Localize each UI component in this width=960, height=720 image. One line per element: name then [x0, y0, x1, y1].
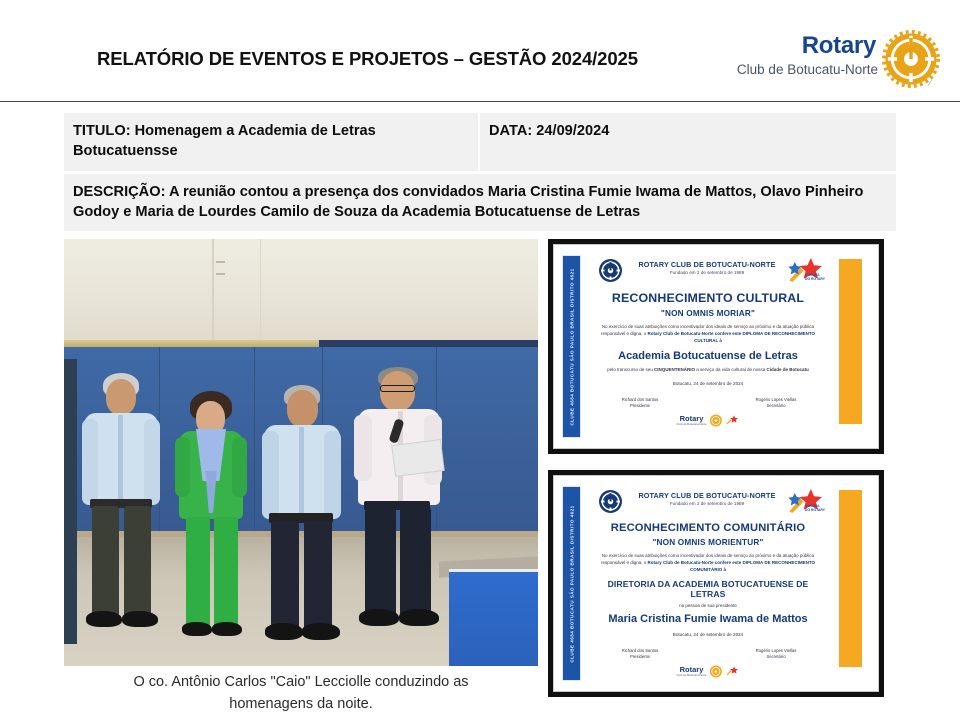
certificate-page: CLUBE 4684 BOTUCATU SÃO PAULO BRASIL DIS…: [553, 475, 879, 692]
certificate-side-bar: CLUBE 4684 BOTUCATU SÃO PAULO BRASIL DIS…: [562, 486, 581, 681]
certificate-honoree-org: DIRETORIA DA ACADEMIA BOTUCATUENSE DE LE…: [590, 579, 826, 599]
certificate-gold-bar: [839, 490, 862, 667]
slide-page: RELATÓRIO DE EVENTOS E PROJETOS – GESTÃO…: [0, 0, 960, 720]
rotary-wordmark: Rotary: [676, 666, 706, 674]
certificate-signatures: Richard dos Santos Presidente Rogério Lo…: [590, 397, 826, 413]
photo-upper-wall: [64, 239, 538, 347]
rotary-club-subtitle: Club de Botucatu-Norte: [676, 673, 706, 677]
rotary-club-subtitle: Club de Botucatu-Norte: [737, 62, 878, 77]
certificate-side-text: CLUBE 4684 BOTUCATU SÃO PAULO BRASIL DIS…: [569, 268, 574, 425]
photo-podium: [449, 569, 538, 666]
certificate-honoree-prefix: na pessoa de sua presidente: [590, 603, 826, 608]
certificate-founded: Fundado em 2 de setembro de 1989: [630, 501, 784, 506]
photo-person-4-speaker: [354, 367, 464, 643]
magic-label: A MAGIADO ROTARY: [805, 273, 825, 282]
photo-caption-line-2: homenagens da noite.: [64, 694, 538, 716]
certificate-footer: Rotary Club de Botucatu-Norte: [590, 414, 826, 430]
rotary-logo: Rotary Club de Botucatu-Norte: [740, 30, 948, 92]
certificate-body-text: No exercício de suas atribuições como in…: [600, 324, 816, 345]
signature-secretary: Rogério Lopes Viellas Secretário: [730, 397, 822, 410]
certificate-body: ROTARY CLUB DE BOTUCATU-NORTE Fundado em…: [590, 482, 826, 685]
magic-star-icon: [726, 665, 740, 677]
photo-left-post: [64, 359, 77, 644]
certificate-page: CLUBE 4684 BOTUCATU SÃO PAULO BRASIL DIS…: [553, 244, 879, 449]
certificate-heading: RECONHECIMENTO COMUNITÁRIO: [590, 522, 826, 534]
paper-sheet: [392, 440, 443, 476]
event-description-cell: DESCRIÇÃO: A reunião contou a presença d…: [64, 174, 896, 231]
certificate-date: Botucatu, 24 de setembro de 2024: [590, 632, 826, 637]
certificate-motto: "NON OMNIS MORIAR": [590, 309, 826, 318]
certificate-honoree: Academia Botucatuense de Letras: [590, 350, 826, 362]
rotary-gear-icon: [710, 414, 723, 427]
photo-wall-fixtures: [216, 261, 230, 285]
rotary-wordmark: Rotary: [802, 32, 876, 60]
certificate-side-text: CLUBE 4684 BOTUCATU SÃO PAULO BRASIL DIS…: [569, 505, 574, 662]
certificate-club-name: ROTARY CLUB DE BOTUCATU-NORTE: [630, 491, 784, 500]
certificate-founded: Fundado em 2 de setembro de 1989: [630, 270, 784, 275]
rotary-club-subtitle: Club de Botucatu-Norte: [676, 422, 706, 426]
signature-president: Richard dos Santos Presidente: [594, 648, 686, 661]
header-divider: [0, 101, 960, 102]
certificate-community: CLUBE 4684 BOTUCATU SÃO PAULO BRASIL DIS…: [548, 470, 884, 697]
certificate-cultural: CLUBE 4684 BOTUCATU SÃO PAULO BRASIL DIS…: [548, 239, 884, 454]
rotary-wordmark: Rotary: [676, 415, 706, 423]
certificate-body-text: No exercício de suas atribuições como in…: [600, 553, 816, 574]
event-photo: [64, 239, 538, 666]
table-row: TITULO: Homenagem a Academia de Letras B…: [64, 113, 896, 171]
rotary-gear-icon: [598, 489, 623, 514]
rotary-gear-icon: [710, 665, 723, 678]
magic-label: A MAGIADO ROTARY: [805, 504, 825, 513]
certificate-heading: RECONHECIMENTO CULTURAL: [590, 291, 826, 305]
photo-wall-seam: [260, 239, 261, 347]
certificate-honoree: Maria Cristina Fumie Iwama de Mattos: [590, 613, 826, 625]
photo-caption-line-1: O co. Antônio Carlos "Caio" Lecciolle co…: [64, 672, 538, 694]
certificate-signatures: Richard dos Santos Presidente Rogério Lo…: [590, 648, 826, 664]
signature-secretary: Rogério Lopes Viellas Secretário: [730, 648, 822, 661]
certificate-motto: "NON OMNIS MORIENTUR": [590, 538, 826, 547]
signature-president: Richard dos Santos Presidente: [594, 397, 686, 410]
event-info-table: TITULO: Homenagem a Academia de Letras B…: [64, 113, 896, 231]
event-title-cell: TITULO: Homenagem a Academia de Letras B…: [64, 113, 480, 171]
photo-caption: O co. Antônio Carlos "Caio" Lecciolle co…: [64, 672, 538, 716]
certificate-date: Botucatu, 24 de setembro de 2024: [590, 381, 826, 386]
certificate-gold-bar: [839, 259, 862, 424]
photo-wall-seam: [212, 239, 214, 347]
magic-star-icon: [726, 414, 740, 426]
rotary-gear-icon: [598, 258, 623, 283]
page-title: RELATÓRIO DE EVENTOS E PROJETOS – GESTÃO…: [97, 48, 638, 70]
certificate-club-name: ROTARY CLUB DE BOTUCATU-NORTE: [630, 260, 784, 269]
certificate-body-tail: pelo transcurso de seu CINQUENTENÁRIO a …: [604, 367, 812, 374]
certificate-side-bar: CLUBE 4684 BOTUCATU SÃO PAULO BRASIL DIS…: [562, 255, 581, 438]
certificate-footer: Rotary Club de Botucatu-Norte: [590, 665, 826, 681]
photo-person-3: [262, 385, 358, 643]
photo-person-2: [174, 391, 262, 643]
logo-swoosh-icon: ⁄: [930, 74, 948, 90]
certificate-body: ROTARY CLUB DE BOTUCATU-NORTE Fundado em…: [590, 251, 826, 442]
photo-person-1: [82, 373, 178, 643]
eyeglasses-icon: [380, 385, 415, 392]
event-date-cell: DATA: 24/09/2024: [480, 113, 896, 171]
table-row: DESCRIÇÃO: A reunião contou a presença d…: [64, 174, 896, 231]
slide-header: RELATÓRIO DE EVENTOS E PROJETOS – GESTÃO…: [0, 0, 960, 103]
